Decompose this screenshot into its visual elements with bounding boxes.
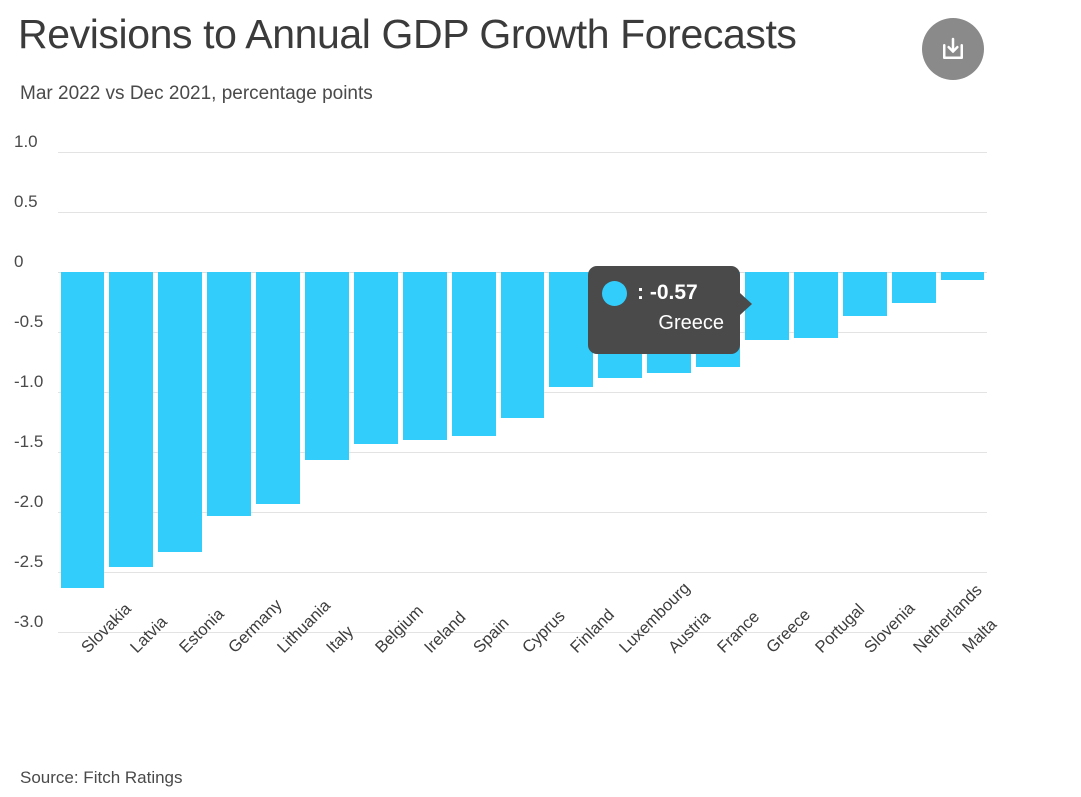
tooltip-color-swatch (602, 281, 627, 306)
bar-malta[interactable] (941, 272, 985, 280)
y-axis: 1.00.50-0.5-1.0-1.5-2.0-2.5-3.0 (0, 152, 58, 652)
bar-italy[interactable] (305, 272, 349, 460)
bar-cyprus[interactable] (501, 272, 545, 418)
bar-netherlands[interactable] (892, 272, 936, 303)
bar-ireland[interactable] (403, 272, 447, 440)
tooltip-arrow (740, 293, 752, 315)
page-title: Revisions to Annual GDP Growth Forecasts (18, 6, 797, 62)
bar-series (58, 152, 987, 632)
bar-estonia[interactable] (158, 272, 202, 552)
chart-tooltip: : -0.57 Greece (588, 266, 740, 354)
plot-area (58, 152, 987, 632)
bar-belgium[interactable] (354, 272, 398, 444)
tooltip-value: : -0.57 (637, 281, 698, 305)
bar-finland[interactable] (549, 272, 593, 387)
x-axis: SlovakiaLatviaEstoniaGermanyLithuaniaIta… (58, 636, 987, 756)
download-button[interactable] (922, 18, 984, 80)
bar-lithuania[interactable] (256, 272, 300, 504)
bar-germany[interactable] (207, 272, 251, 516)
tooltip-series-name: Greece (602, 312, 726, 335)
chart-subtitle: Mar 2022 vs Dec 2021, percentage points (20, 80, 373, 108)
bar-slovenia[interactable] (843, 272, 887, 316)
bar-slovakia[interactable] (61, 272, 105, 588)
chart-card: Revisions to Annual GDP Growth Forecasts… (0, 0, 1081, 797)
bar-spain[interactable] (452, 272, 496, 436)
source-note: Source: Fitch Ratings (20, 768, 183, 788)
bar-portugal[interactable] (794, 272, 838, 338)
download-icon (938, 34, 968, 64)
bar-latvia[interactable] (109, 272, 153, 567)
tooltip-value-row: : -0.57 (602, 280, 726, 306)
